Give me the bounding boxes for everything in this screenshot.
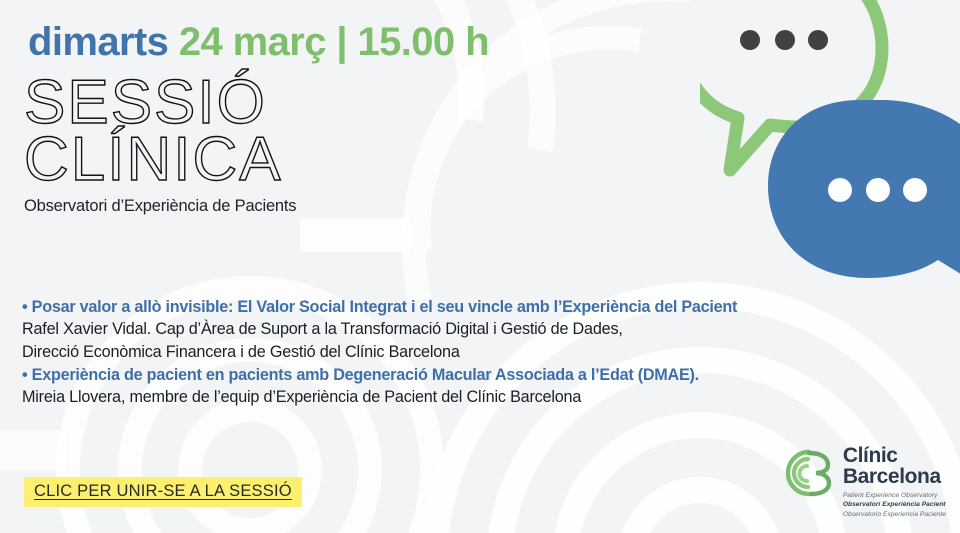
headline-datetime: 24 març | 15.00 h bbox=[179, 20, 489, 64]
clinic-barcelona-logo: Clínic Barcelona Patient Experience Obse… bbox=[783, 445, 946, 519]
logo-tagline-ca: Observatori Experiència Pacient bbox=[843, 500, 946, 509]
clinic-logo-mark-icon bbox=[783, 447, 835, 504]
event-headline: dimarts 24 març | 15.00 h bbox=[28, 22, 489, 62]
logo-tagline: Patient Experience Observatory Observato… bbox=[843, 491, 946, 519]
title-block: SESSIÓ CLÍNICA Observatori d’Experiència… bbox=[24, 74, 296, 216]
session-title: • Experiència de pacient en pacients amb… bbox=[22, 364, 902, 386]
logo-name-line-2: Barcelona bbox=[843, 466, 946, 488]
poster-canvas: dimarts 24 març | 15.00 h SESSIÓ CLÍNICA… bbox=[0, 0, 960, 533]
logo-tagline-es: Observatorio Experiencia Paciente bbox=[843, 510, 946, 519]
title-line-1: SESSIÓ bbox=[24, 74, 296, 131]
session-item: • Posar valor a allò invisible: El Valor… bbox=[22, 296, 902, 363]
session-title: • Posar valor a allò invisible: El Valor… bbox=[22, 296, 902, 318]
logo-name-line-1: Clínic bbox=[843, 445, 946, 467]
title-line-2: CLÍNICA bbox=[24, 131, 296, 188]
green-speech-bubble bbox=[700, 0, 882, 170]
session-speaker-line: Mireia Llovera, membre de l’equip d’Expe… bbox=[22, 386, 902, 408]
headline-weekday: dimarts bbox=[28, 20, 168, 64]
bubble-illustration bbox=[700, 0, 960, 300]
session-speaker-line: Direcció Econòmica Financera i de Gestió… bbox=[22, 341, 902, 363]
program-list: • Posar valor a allò invisible: El Valor… bbox=[22, 296, 902, 409]
logo-tagline-en: Patient Experience Observatory bbox=[843, 491, 946, 500]
session-speaker-line: Rafel Xavier Vidal. Cap d’Àrea de Suport… bbox=[22, 318, 902, 340]
blue-speech-bubble bbox=[768, 100, 960, 292]
cb-monogram-icon bbox=[783, 447, 835, 499]
session-item: • Experiència de pacient en pacients amb… bbox=[22, 364, 902, 409]
join-session-link[interactable]: CLIC PER UNIR-SE A LA SESSIÓ bbox=[24, 477, 302, 507]
title-subtitle: Observatori d’Experiència de Pacients bbox=[24, 197, 296, 216]
speech-bubbles-graphic bbox=[700, 0, 960, 290]
logo-text-block: Clínic Barcelona Patient Experience Obse… bbox=[843, 445, 946, 519]
